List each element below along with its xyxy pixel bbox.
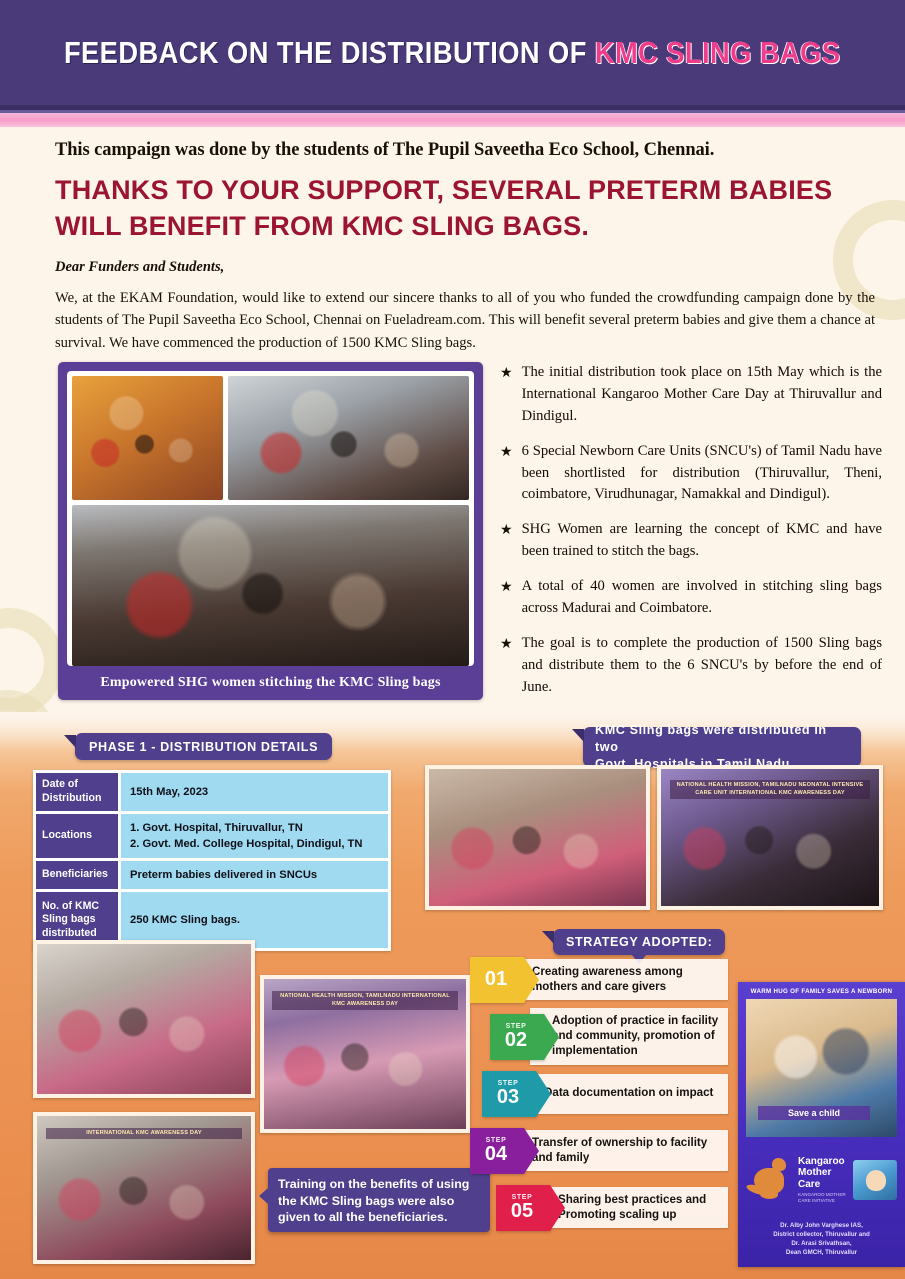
photo-image	[37, 944, 251, 1094]
strategy-step: STEP 05 Sharing best practices and Promo…	[470, 1181, 728, 1234]
photo-banner-text: NATIONAL HEALTH MISSION, TAMILNADU NEONA…	[670, 780, 871, 799]
collage-caption: Empowered SHG women stitching the KMC Sl…	[67, 666, 474, 700]
strategy-step: 01 Creating awareness among mothers and …	[470, 953, 728, 1006]
strategy-steps: 01 Creating awareness among mothers and …	[470, 953, 728, 1238]
step-text: Creating awareness among mothers and car…	[510, 959, 728, 1001]
kmc-distribution-banner: KMC Sling bags were distributed in two G…	[583, 727, 861, 767]
photo-speaker-address: INTERNATIONAL KMC AWARENESS DAY	[33, 1112, 255, 1264]
table-row-label: Locations	[36, 814, 118, 858]
step-chip: STEP 05	[496, 1185, 550, 1231]
page-title-main: FEEDBACK ON THE DISTRIBUTION OF	[64, 35, 595, 70]
table-row-label: Date of Distribution	[36, 773, 118, 811]
photo-sling-bags-display: NATIONAL HEALTH MISSION, TAMILNADU INTER…	[260, 975, 470, 1133]
star-icon: ★	[500, 362, 513, 428]
step-word: STEP	[498, 1080, 519, 1087]
list-item-text: The initial distribution took place on 1…	[522, 362, 882, 428]
poster-photo: Save a child	[746, 999, 897, 1137]
list-item-text: SHG Women are learning the concept of KM…	[522, 519, 882, 563]
intro-headline: THANKS TO YOUR SUPPORT, SEVERAL PRETERM …	[55, 173, 870, 245]
step-word: STEP	[512, 1194, 533, 1201]
kmc-banner-line1: KMC Sling bags were distributed in two	[595, 722, 849, 756]
infographic-page: FEEDBACK ON THE DISTRIBUTION OF KMC SLIN…	[0, 0, 905, 1279]
step-chip: STEP 03	[482, 1071, 536, 1117]
poster-kmc-title: Kangaroo Mother Care	[798, 1156, 849, 1191]
table-row-value: Preterm babies delivered in SNCUs	[121, 861, 388, 889]
intro-section: This campaign was done by the students o…	[55, 140, 870, 355]
step-text: Data documentation on impact	[522, 1074, 728, 1114]
poster-kmc-text: Kangaroo Mother Care KANGAROO MOTHER CAR…	[798, 1156, 849, 1204]
poster-credits: Dr. Alby John Varghese IAS, District col…	[738, 1217, 905, 1258]
list-item-text: A total of 40 women are involved in stit…	[522, 576, 882, 620]
kangaroo-leg	[760, 1190, 778, 1199]
collage-bottom-row	[72, 505, 469, 629]
kangaroo-icon	[746, 1152, 794, 1208]
page-title-accent: KMC SLING BAGS	[595, 35, 841, 70]
table-row-label: Beneficiaries	[36, 861, 118, 889]
step-number: 04	[485, 1144, 507, 1165]
kangaroo-head	[772, 1158, 786, 1171]
list-item: ★ The initial distribution took place on…	[500, 362, 882, 428]
photo-nurses-awareness	[33, 940, 255, 1098]
table-row: Locations 1. Govt. Hospital, Thiruvallur…	[36, 814, 388, 858]
strategy-step: STEP 03 Data documentation on impact	[470, 1067, 728, 1120]
list-item: ★ SHG Women are learning the concept of …	[500, 519, 882, 563]
strategy-step: STEP 02 Adoption of practice in facility…	[470, 1010, 728, 1063]
step-word: STEP	[486, 1137, 507, 1144]
list-item: ★ 6 Special Newborn Care Units (SNCU's) …	[500, 441, 882, 507]
table-row: Beneficiaries Preterm babies delivered i…	[36, 861, 388, 889]
step-number: 05	[511, 1201, 533, 1222]
step-text: Transfer of ownership to facility and fa…	[510, 1130, 728, 1172]
step-chip: 01	[470, 957, 524, 1003]
step-number: 03	[497, 1087, 519, 1108]
list-item-text: The goal is to complete the production o…	[522, 633, 882, 699]
intro-lead: This campaign was done by the students o…	[55, 140, 870, 161]
mother-baby-icon	[853, 1160, 897, 1200]
photo-image	[429, 769, 646, 906]
photo-hospital-handover: NATIONAL HEALTH MISSION, TAMILNADU NEONA…	[657, 765, 883, 910]
step-chip: STEP 02	[490, 1014, 544, 1060]
highlights-list: ★ The initial distribution took place on…	[500, 362, 882, 712]
list-item-text: 6 Special Newborn Care Units (SNCU's) of…	[522, 441, 882, 507]
training-caption: Training on the benefits of using the KM…	[268, 1168, 490, 1232]
poster-credit-line: District collector, Thiruvallur and	[743, 1231, 900, 1240]
table-row-value: 15th May, 2023	[121, 773, 388, 811]
table-row-value: 1. Govt. Hospital, Thiruvallur, TN 2. Go…	[121, 814, 388, 858]
table-value-line: Preterm babies delivered in SNCUs	[130, 867, 317, 883]
star-icon: ★	[500, 633, 513, 699]
star-icon: ★	[500, 576, 513, 620]
intro-salutation: Dear Funders and Students,	[55, 259, 870, 276]
table-value-line: 1. Govt. Hospital, Thiruvallur, TN	[130, 820, 362, 836]
page-title: FEEDBACK ON THE DISTRIBUTION OF KMC SLIN…	[64, 35, 841, 71]
poster-credit-line: Dr. Alby John Varghese IAS,	[743, 1222, 900, 1231]
collage-photo-2	[228, 376, 469, 500]
step-chip: STEP 04	[470, 1128, 524, 1174]
poster-kmc-subtitle: KANGAROO MOTHER CARE INITIATIVE	[798, 1192, 849, 1204]
decorative-ring-left	[0, 608, 64, 718]
collage-photos	[67, 371, 474, 666]
list-item: ★ A total of 40 women are involved in st…	[500, 576, 882, 620]
poster-credit-line: Dr. Arasi Srivathsan,	[743, 1240, 900, 1249]
shg-photo-collage: Empowered SHG women stitching the KMC Sl…	[58, 362, 483, 700]
collage-top-row	[72, 376, 469, 500]
collage-photo-3	[72, 505, 469, 666]
photo-image: INTERNATIONAL KMC AWARENESS DAY	[37, 1116, 251, 1260]
step-number: 01	[485, 969, 507, 990]
table-value-line: 250 KMC Sling bags.	[130, 912, 240, 928]
collage-photo-1	[72, 376, 223, 500]
page-header: FEEDBACK ON THE DISTRIBUTION OF KMC SLIN…	[0, 0, 905, 105]
photo-banner-text: NATIONAL HEALTH MISSION, TAMILNADU INTER…	[272, 991, 458, 1010]
poster-credit-line: Dean GMCH, Thiruvallur	[743, 1249, 900, 1258]
photo-image: NATIONAL HEALTH MISSION, TAMILNADU NEONA…	[661, 769, 879, 906]
table-value-line: 15th May, 2023	[130, 784, 208, 800]
table-value-line: 2. Govt. Med. College Hospital, Dindigul…	[130, 836, 362, 852]
photo-image: NATIONAL HEALTH MISSION, TAMILNADU INTER…	[264, 979, 466, 1129]
star-icon: ★	[500, 519, 513, 563]
step-number: 02	[505, 1030, 527, 1051]
intro-body: We, at the EKAM Foundation, would like t…	[55, 287, 875, 355]
phase1-tag: PHASE 1 - DISTRIBUTION DETAILS	[75, 733, 332, 760]
phase1-details-table: Date of Distribution 15th May, 2023 Loca…	[33, 770, 391, 951]
poster-kmc-block: Kangaroo Mother Care KANGAROO MOTHER CAR…	[738, 1143, 905, 1217]
poster-headline: WARM HUG OF FAMILY SAVES A NEWBORN	[738, 982, 905, 999]
star-icon: ★	[500, 441, 513, 507]
strategy-tag: STRATEGY ADOPTED:	[553, 929, 725, 955]
photo-banner-text: INTERNATIONAL KMC AWARENESS DAY	[46, 1128, 243, 1140]
step-text: Adoption of practice in facility and com…	[530, 1008, 728, 1064]
strategy-step: STEP 04 Transfer of ownership to facilit…	[470, 1124, 728, 1177]
intro-headline-line1: THANKS TO YOUR SUPPORT, SEVERAL PRETERM …	[55, 173, 870, 209]
photo-distribution-ceremony	[425, 765, 650, 910]
intro-headline-line2: WILL BENEFIT FROM KMC SLING BAGS.	[55, 209, 870, 245]
kmc-awareness-poster: WARM HUG OF FAMILY SAVES A NEWBORN Save …	[738, 982, 905, 1267]
list-item: ★ The goal is to complete the production…	[500, 633, 882, 699]
poster-subtext: Save a child	[758, 1106, 870, 1120]
header-pink-band	[0, 113, 905, 127]
step-word: STEP	[506, 1023, 527, 1030]
table-row: Date of Distribution 15th May, 2023	[36, 773, 388, 811]
